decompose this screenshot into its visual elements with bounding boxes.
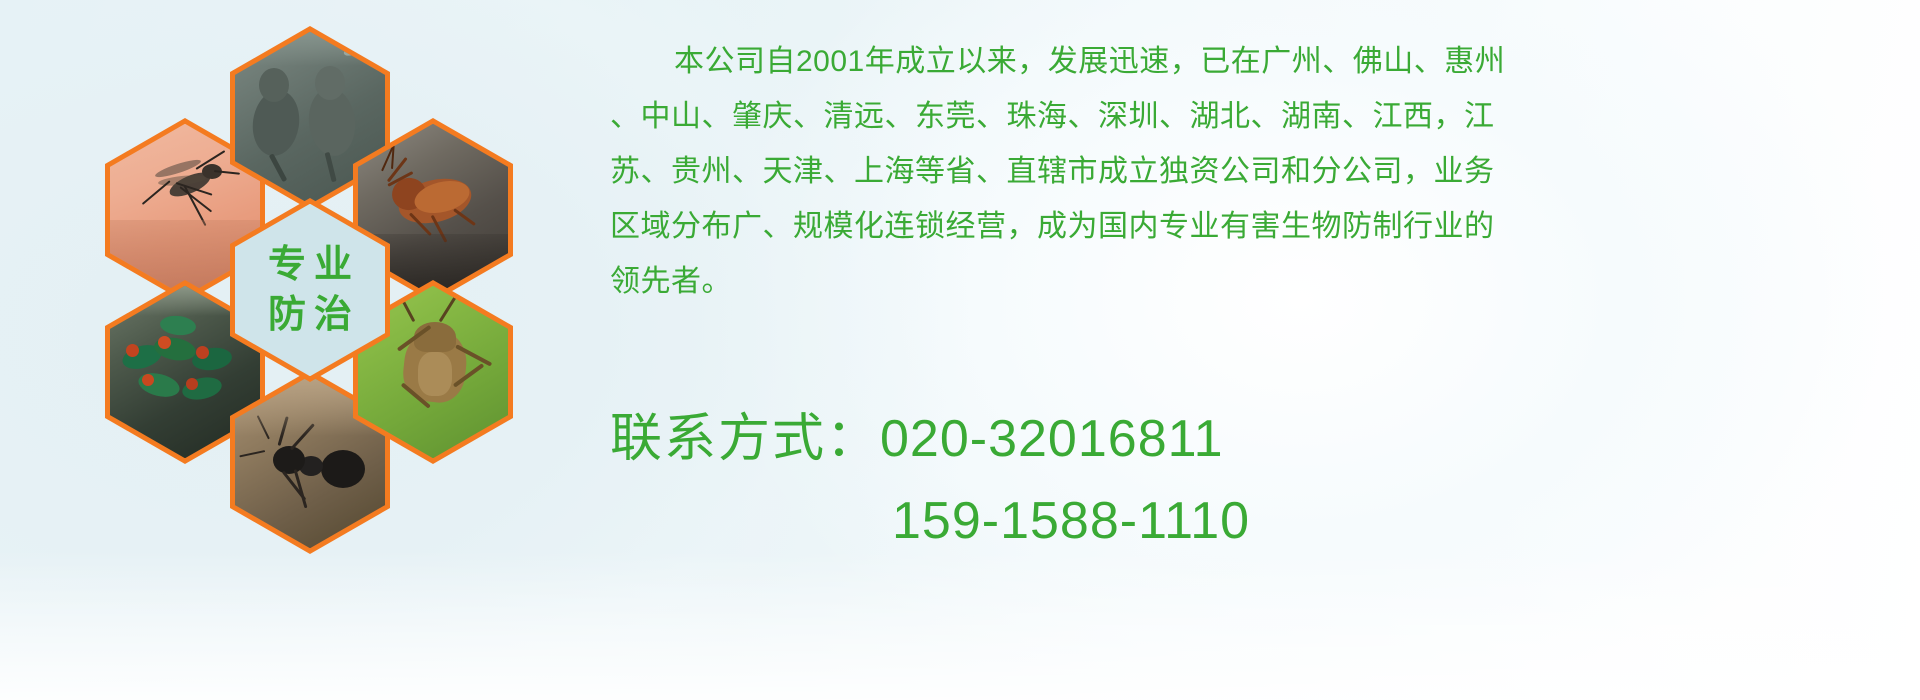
phone-secondary[interactable]: 159-1588-1110 xyxy=(892,492,1250,550)
logo-line-2: 防治 xyxy=(260,296,360,334)
description-line-4: 区域分布广、规模化连锁经营，成为国内专业有害生物防制行业的 xyxy=(610,199,1870,254)
promo-banner: 专业 防治 本公司自2001年成立以来，发展迅速，已在广州、佛山、惠州 、中山、… xyxy=(0,0,1920,700)
description-line-2: 、中山、肇庆、清远、东莞、珠海、深圳、湖北、湖南、江西，江 xyxy=(610,89,1870,144)
contact-label: 联系方式： xyxy=(610,410,880,468)
logo-text: 专业 防治 xyxy=(235,204,385,376)
description-line-1: 本公司自2001年成立以来，发展迅速，已在广州、佛山、惠州 xyxy=(610,34,1870,89)
description-line-3: 苏、贵州、天津、上海等省、直辖市成立独资公司和分公司，业务 xyxy=(610,144,1870,199)
contact-block: 联系方式：020-32016811 159-1588-1110 xyxy=(610,398,1890,562)
phone-primary[interactable]: 020-32016811 xyxy=(880,410,1224,468)
contact-secondary-line: 159-1588-1110 xyxy=(610,480,1890,562)
contact-primary-line: 联系方式：020-32016811 xyxy=(610,398,1890,480)
company-description: 本公司自2001年成立以来，发展迅速，已在广州、佛山、惠州 、中山、肇庆、清远、… xyxy=(610,34,1870,309)
hex-inner-logo: 专业 防治 xyxy=(235,204,385,376)
honeycomb-cluster: 专业 防治 xyxy=(95,8,595,568)
logo-line-1: 专业 xyxy=(260,246,360,284)
description-line-5: 领先者。 xyxy=(610,254,1870,309)
